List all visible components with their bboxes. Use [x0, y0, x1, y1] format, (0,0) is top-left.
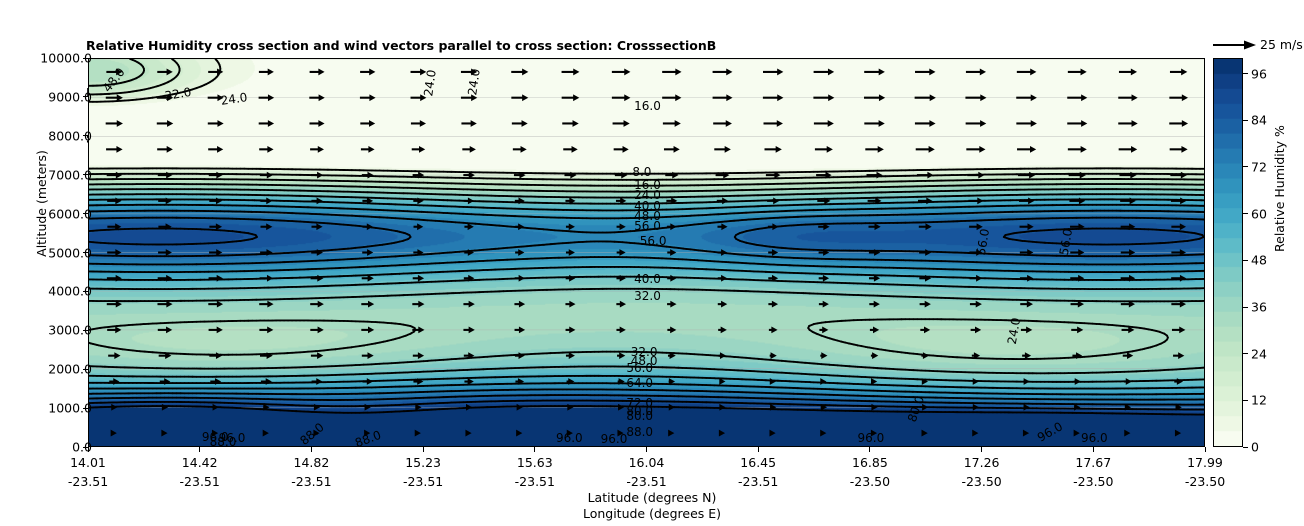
x-tick-label-longitude: -23.51: [403, 474, 443, 489]
contour-label: 56.0: [626, 361, 653, 375]
x-tick-label-latitude: 16.85: [852, 455, 888, 470]
x-tick-label-latitude: 17.67: [1075, 455, 1111, 470]
colorbar-tick-label: 96: [1251, 66, 1267, 81]
x-tick-label-longitude: -23.51: [291, 474, 331, 489]
x-tick-label-longitude: -23.50: [961, 474, 1001, 489]
colorbar-tick-mark: [1243, 120, 1248, 121]
colorbar-gradient: [1214, 59, 1242, 446]
x-tick-mark: [869, 447, 870, 452]
colorbar-title: Relative Humidity %: [1272, 125, 1287, 252]
quiver-key-label: 25 m/s: [1260, 37, 1303, 52]
colorbar-tick-mark: [1243, 447, 1248, 448]
x-tick-label-longitude: -23.50: [1073, 474, 1113, 489]
quiver-key-arrow-icon: [1212, 38, 1258, 52]
colorbar-tick-label: 36: [1251, 300, 1267, 315]
y-tick-label: 9000.0: [48, 89, 92, 104]
x-tick-mark: [199, 447, 200, 452]
contour-label: 16.0: [634, 99, 661, 113]
colorbar-tick-label: 48: [1251, 253, 1267, 268]
x-tick-mark: [1093, 447, 1094, 452]
contour-label: 96.0: [1081, 431, 1108, 445]
contour-label: 96.0: [601, 432, 628, 446]
x-tick-mark: [981, 447, 982, 452]
contour-label: 56.0: [634, 219, 661, 233]
x-tick-mark: [311, 447, 312, 452]
colorbar-tick-mark: [1243, 73, 1248, 74]
contour-label: 40.0: [634, 272, 661, 286]
x-tick-label-latitude: 16.45: [740, 455, 776, 470]
colorbar-tick-mark: [1243, 307, 1248, 308]
colorbar-tick-mark: [1243, 353, 1248, 354]
x-tick-mark: [1205, 447, 1206, 452]
contour-label: 56.0: [640, 234, 667, 248]
y-tick-label: 0.0: [72, 440, 92, 455]
y-tick-label: 7000.0: [48, 167, 92, 182]
colorbar-tick-mark: [1243, 400, 1248, 401]
colorbar-tick-mark: [1243, 260, 1248, 261]
contour-label: 88.0: [626, 425, 653, 439]
x-axis-label-latitude: Latitude (degrees N): [0, 490, 1304, 505]
x-tick-label-latitude: 16.04: [629, 455, 665, 470]
colorbar-tick-label: 24: [1251, 346, 1267, 361]
x-tick-mark: [423, 447, 424, 452]
colorbar-tick-mark: [1243, 166, 1248, 167]
x-tick-label-longitude: -23.51: [180, 474, 220, 489]
colorbar-tick-mark: [1243, 213, 1248, 214]
y-tick-label: 8000.0: [48, 128, 92, 143]
contour-label: 96.0: [556, 431, 583, 445]
colorbar: [1213, 58, 1243, 447]
contour-label: 80.0: [626, 409, 653, 423]
x-tick-label-latitude: 14.82: [293, 455, 329, 470]
x-tick-mark: [758, 447, 759, 452]
colorbar-tick-label: 60: [1251, 206, 1267, 221]
y-tick-label: 5000.0: [48, 245, 92, 260]
x-tick-label-latitude: 14.01: [70, 455, 106, 470]
contour-label: 32.0: [634, 289, 661, 303]
y-tick-label: 4000.0: [48, 284, 92, 299]
x-tick-mark: [534, 447, 535, 452]
colorbar-tick-label: 0: [1251, 440, 1259, 455]
y-tick-label: 10000.0: [40, 51, 92, 66]
x-tick-label-latitude: 14.42: [182, 455, 218, 470]
figure-canvas: Relative Humidity cross section and wind…: [0, 0, 1304, 526]
x-tick-label-longitude: -23.50: [850, 474, 890, 489]
x-tick-label-latitude: 17.26: [964, 455, 1000, 470]
colorbar-tick-label: 12: [1251, 393, 1267, 408]
x-axis-label-longitude: Longitude (degrees E): [0, 506, 1304, 521]
x-tick-label-longitude: -23.50: [1185, 474, 1225, 489]
y-tick-label: 3000.0: [48, 323, 92, 338]
contour-label: 8.0: [632, 165, 651, 179]
x-tick-label-longitude: -23.51: [738, 474, 778, 489]
title-line-1: Relative Humidity cross section and wind…: [86, 38, 716, 54]
contour-label: 88.0: [210, 435, 237, 447]
x-tick-mark: [88, 447, 89, 452]
x-tick-mark: [646, 447, 647, 452]
colorbar-tick-label: 84: [1251, 113, 1267, 128]
contour-label: 96.0: [858, 431, 885, 445]
x-tick-label-longitude: -23.51: [626, 474, 666, 489]
y-tick-label: 2000.0: [48, 362, 92, 377]
colorbar-tick-label: 72: [1251, 159, 1267, 174]
x-tick-label-latitude: 15.23: [405, 455, 441, 470]
contour-label: 64.0: [626, 376, 653, 390]
y-tick-label: 1000.0: [48, 401, 92, 416]
x-tick-label-longitude: -23.51: [68, 474, 108, 489]
plot-area: 48.032.024.024.024.016.08.016.024.040.04…: [88, 58, 1205, 447]
y-tick-label: 6000.0: [48, 206, 92, 221]
x-tick-label-latitude: 17.99: [1187, 455, 1223, 470]
x-tick-label-longitude: -23.51: [515, 474, 555, 489]
x-tick-label-latitude: 15.63: [517, 455, 553, 470]
y-axis-label: Altitude (meters): [34, 150, 49, 257]
